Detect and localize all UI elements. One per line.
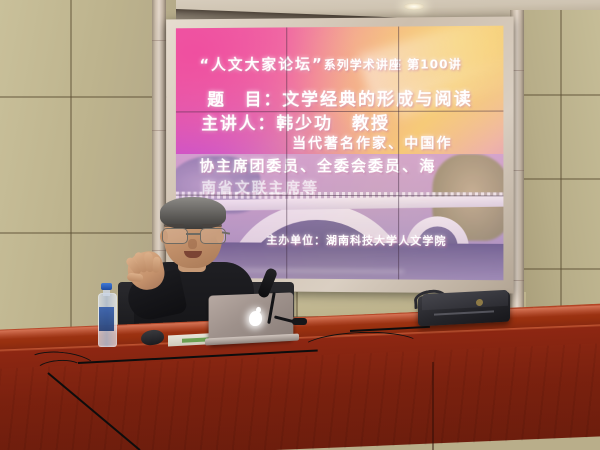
slide-series-title: “人文大家论坛”系列学术讲座 第100讲 xyxy=(199,52,461,74)
laptop-bag[interactable] xyxy=(414,286,512,328)
desk-panel-seam xyxy=(432,362,434,450)
water-bottle[interactable] xyxy=(98,283,115,345)
slide-bio-line-1: 当代著名作家、中国作 xyxy=(292,133,452,153)
recessed-downlight-icon xyxy=(404,3,424,10)
speaker-nose xyxy=(188,239,197,249)
gooseneck-microphone[interactable] xyxy=(262,268,308,330)
video-wall-seam-v2 xyxy=(398,27,399,280)
slide-bio-line-2: 协主席团委员、全委会委员、海 xyxy=(199,155,436,176)
speaker-brow-left xyxy=(164,224,184,227)
video-wall-seam-v1 xyxy=(286,27,287,278)
slide-speaker: 主讲人：韩少功 教授 xyxy=(201,109,390,134)
lecture-hall-photo: “人文大家论坛”系列学术讲座 第100讲 题 目：文学经典的形成与阅读 主讲人：… xyxy=(0,0,600,450)
slide-series-title-quoted: “人文大家论坛” xyxy=(199,55,323,74)
slide-topic: 题 目：文学经典的形成与阅读 xyxy=(207,84,473,110)
slide-organizer: 主办单位：湖南科技大学人文学院 xyxy=(266,232,446,249)
slide-series-title-rest: 系列学术讲座 第100讲 xyxy=(324,57,462,72)
speaker-brow-right xyxy=(202,224,222,227)
